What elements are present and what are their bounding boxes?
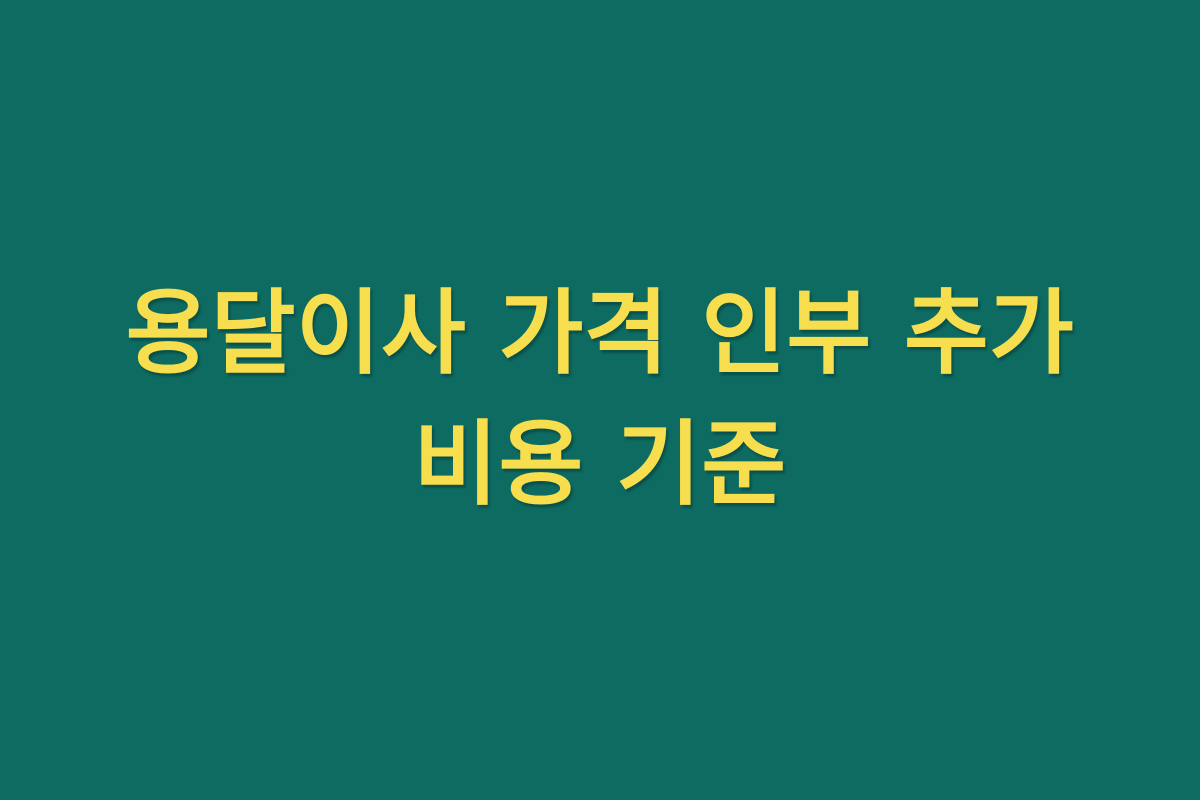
- headline-line-2: 비용 기준: [40, 400, 1160, 531]
- banner-canvas: 용달이사 가격 인부 추가 비용 기준: [0, 0, 1200, 800]
- page-title: 용달이사 가격 인부 추가 비용 기준: [40, 269, 1160, 530]
- headline-line-1: 용달이사 가격 인부 추가: [40, 269, 1160, 400]
